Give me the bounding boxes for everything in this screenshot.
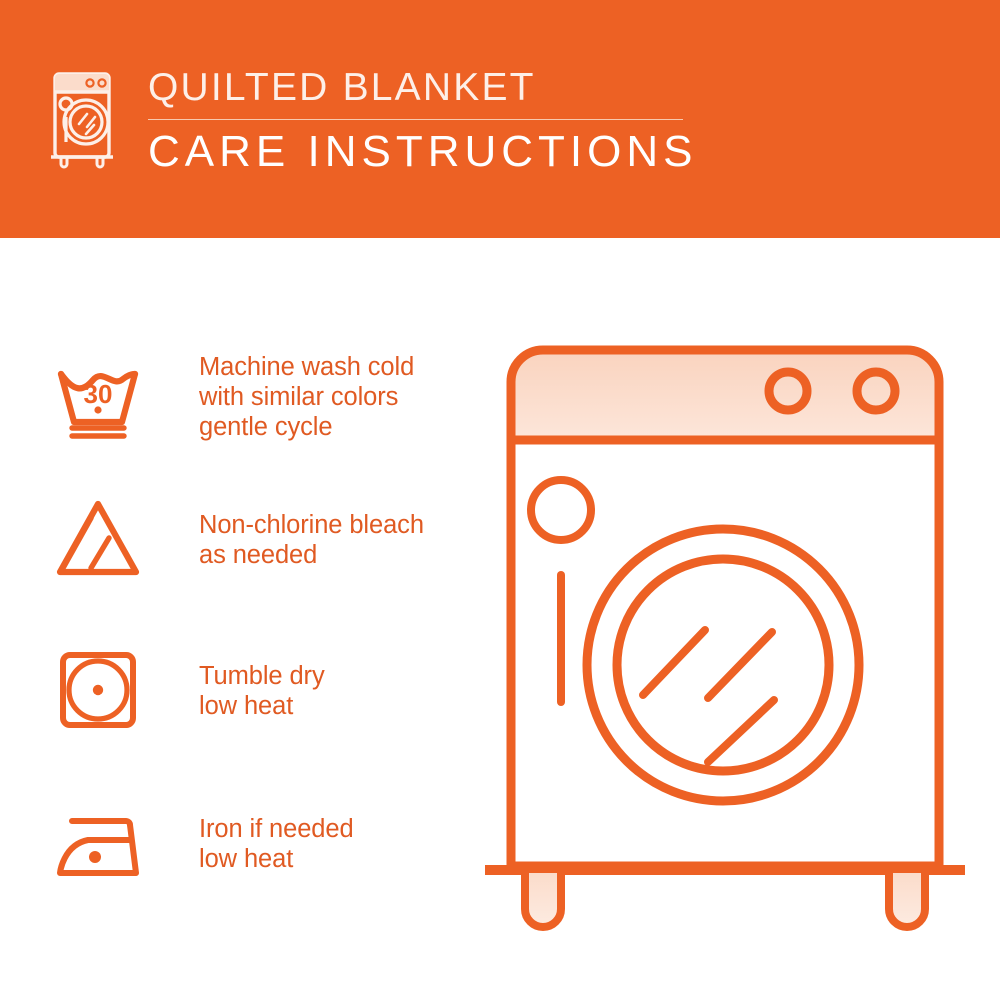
front-load-washing-machine-illustration [480, 320, 970, 940]
page-header: QUILTED BLANKET CARE INSTRUCTIONS [0, 0, 1000, 238]
care-item-tumble-dry: Tumble dry low heat [50, 640, 470, 736]
header-content: QUILTED BLANKET CARE INSTRUCTIONS [46, 62, 697, 176]
care-instruction-list: 30 Machine wash cold with similar colors… [0, 238, 470, 1000]
iron-icon [50, 793, 146, 889]
care-item-label: Machine wash cold with similar colors ge… [199, 346, 414, 442]
title-divider [148, 119, 683, 120]
header-title-block: QUILTED BLANKET CARE INSTRUCTIONS [148, 62, 697, 176]
washing-machine-icon [46, 70, 118, 170]
care-item-wash: 30 Machine wash cold with similar colors… [50, 346, 470, 442]
care-item-label: Tumble dry low heat [199, 640, 325, 721]
care-item-iron: Iron if needed low heat [50, 793, 470, 889]
page-title-primary: QUILTED BLANKET [148, 66, 697, 110]
tumble-dry-icon [50, 640, 146, 736]
care-item-label: Non-chlorine bleach as needed [199, 488, 424, 570]
page-title-secondary: CARE INSTRUCTIONS [148, 128, 697, 176]
bleach-triangle-icon [50, 488, 146, 584]
care-item-label: Iron if needed low heat [199, 793, 354, 874]
wash-tub-30-icon: 30 [50, 346, 146, 442]
svg-text:30: 30 [84, 379, 113, 409]
care-item-bleach: Non-chlorine bleach as needed [50, 488, 470, 584]
